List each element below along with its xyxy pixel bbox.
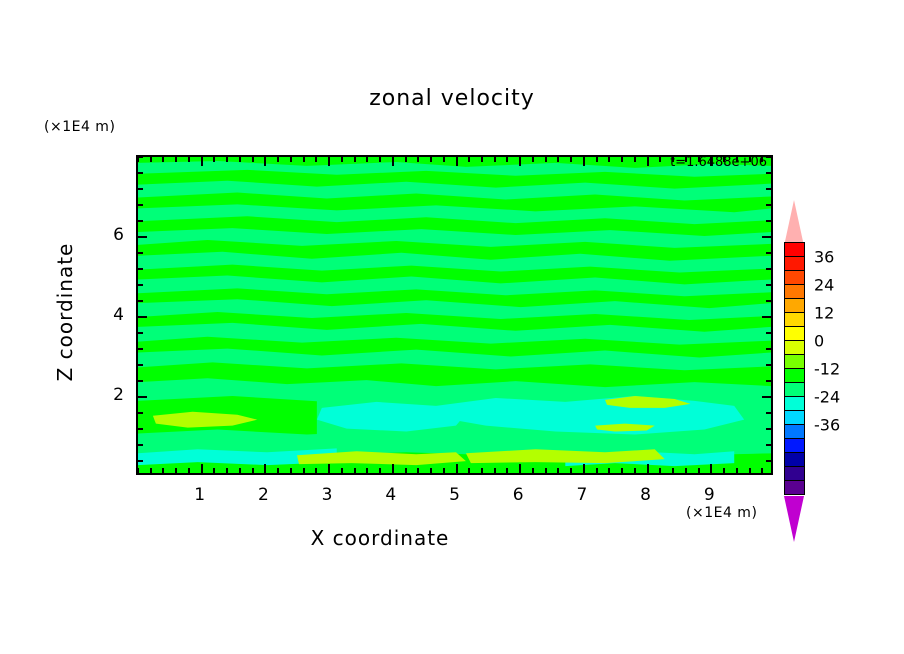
x-axis-title: X coordinate: [0, 526, 760, 550]
axis-tick: [532, 468, 534, 473]
colorbar-band: [784, 256, 805, 271]
axis-tick: [226, 157, 228, 162]
colorbar-band: [784, 424, 805, 439]
axis-tick: [608, 157, 610, 162]
axis-tick: [519, 464, 521, 473]
y-tick-label: 6: [98, 225, 124, 245]
colorbar-label: 0: [814, 332, 824, 351]
axis-tick: [392, 157, 394, 166]
axis-tick: [659, 468, 661, 473]
colorbar-band: [784, 396, 805, 411]
axis-tick: [481, 468, 483, 473]
axis-tick: [494, 157, 496, 162]
axis-tick: [766, 444, 771, 446]
axis-tick: [138, 268, 143, 270]
axis-tick: [290, 468, 292, 473]
axis-tick: [647, 157, 649, 166]
axis-tick: [315, 157, 317, 162]
axis-tick: [379, 468, 381, 473]
axis-tick: [341, 468, 343, 473]
colorbar-label: -12: [814, 360, 840, 379]
axis-tick: [519, 157, 521, 166]
colorbar-band: [784, 354, 805, 369]
axis-tick: [634, 157, 636, 162]
colorbar-label: -24: [814, 388, 840, 407]
axis-tick: [766, 380, 771, 382]
axis-tick: [621, 157, 623, 162]
x-tick-label: 7: [576, 485, 587, 505]
axis-tick: [328, 157, 330, 166]
colorbar-band: [784, 312, 805, 327]
axis-tick: [766, 220, 771, 222]
axis-tick: [672, 468, 674, 473]
axis-tick: [736, 468, 738, 473]
axis-tick: [766, 428, 771, 430]
axis-tick: [634, 468, 636, 473]
axis-tick: [162, 157, 164, 162]
axis-tick: [545, 468, 547, 473]
axis-tick: [723, 468, 725, 473]
contour-field: [138, 157, 771, 473]
colorbar-under-arrow: [784, 496, 804, 542]
axis-tick: [545, 157, 547, 162]
axis-tick: [252, 468, 254, 473]
axis-tick: [138, 412, 143, 414]
axis-tick: [766, 268, 771, 270]
x-tick-label: 2: [258, 485, 269, 505]
axis-tick: [766, 188, 771, 190]
axis-tick: [201, 464, 203, 473]
colorbar-band: [784, 270, 805, 285]
axis-tick: [201, 157, 203, 166]
axis-tick: [138, 172, 143, 174]
axis-tick: [138, 428, 143, 430]
colorbar-band: [784, 298, 805, 313]
axis-tick: [138, 236, 147, 238]
colorbar-band: [784, 452, 805, 467]
axis-tick: [532, 157, 534, 162]
axis-tick: [761, 468, 763, 473]
axis-tick: [494, 468, 496, 473]
colorbar-band: [784, 438, 805, 453]
y-axis-unit-label: (×1E4 m): [44, 119, 115, 135]
axis-tick: [468, 157, 470, 162]
axis-tick: [405, 157, 407, 162]
axis-tick: [583, 157, 585, 166]
colorbar-band: [784, 368, 805, 383]
axis-tick: [430, 157, 432, 162]
axis-tick: [138, 284, 143, 286]
axis-tick: [766, 364, 771, 366]
axis-tick: [570, 468, 572, 473]
axis-tick: [213, 468, 215, 473]
axis-tick: [766, 348, 771, 350]
colorbar-label: 36: [814, 248, 834, 267]
axis-tick: [138, 188, 143, 190]
axis-tick: [685, 468, 687, 473]
colorbar-band: [784, 480, 805, 495]
axis-tick: [443, 157, 445, 162]
colorbar-band: [784, 340, 805, 355]
colorbar-band: [784, 284, 805, 299]
axis-tick: [417, 468, 419, 473]
axis-tick: [766, 252, 771, 254]
axis-tick: [710, 464, 712, 473]
axis-tick: [608, 468, 610, 473]
colorbar-band: [784, 326, 805, 341]
axis-tick: [766, 284, 771, 286]
axis-tick: [417, 157, 419, 162]
axis-tick: [264, 157, 266, 166]
axis-tick: [328, 464, 330, 473]
y-tick-label: 2: [98, 385, 124, 405]
x-tick-label: 9: [704, 485, 715, 505]
axis-tick: [762, 396, 771, 398]
axis-tick: [766, 332, 771, 334]
axis-tick: [766, 204, 771, 206]
axis-tick: [137, 468, 139, 473]
axis-tick: [138, 364, 143, 366]
axis-tick: [138, 316, 147, 318]
axis-tick: [138, 348, 143, 350]
axis-tick: [138, 156, 143, 158]
axis-tick: [379, 157, 381, 162]
axis-tick: [213, 157, 215, 162]
axis-tick: [138, 380, 143, 382]
x-tick-label: 3: [322, 485, 333, 505]
axis-tick: [557, 157, 559, 162]
axis-tick: [138, 300, 143, 302]
colorbar-band: [784, 382, 805, 397]
axis-tick: [766, 460, 771, 462]
axis-tick: [354, 468, 356, 473]
axis-tick: [264, 464, 266, 473]
axis-tick: [392, 464, 394, 473]
axis-tick: [290, 157, 292, 162]
axis-tick: [303, 468, 305, 473]
axis-tick: [443, 468, 445, 473]
axis-tick: [138, 220, 143, 222]
axis-tick: [252, 157, 254, 162]
axis-tick: [766, 412, 771, 414]
axis-tick: [596, 157, 598, 162]
colorbar-over-arrow: [784, 200, 804, 246]
axis-tick: [698, 468, 700, 473]
x-tick-label: 1: [194, 485, 205, 505]
axis-tick: [354, 157, 356, 162]
axis-tick: [621, 468, 623, 473]
axis-tick: [162, 468, 164, 473]
colorbar-band: [784, 466, 805, 481]
axis-tick: [405, 468, 407, 473]
x-tick-label: 5: [449, 485, 460, 505]
axis-tick: [239, 157, 241, 162]
axis-tick: [762, 316, 771, 318]
axis-tick: [239, 468, 241, 473]
axis-tick: [226, 468, 228, 473]
contour-plot-area: t=1.6488e+06: [136, 155, 773, 475]
colorbar-band: [784, 242, 805, 257]
axis-tick: [277, 157, 279, 162]
axis-tick: [138, 252, 143, 254]
axis-tick: [766, 172, 771, 174]
axis-tick: [430, 468, 432, 473]
axis-tick: [341, 157, 343, 162]
axis-tick: [749, 468, 751, 473]
axis-tick: [506, 157, 508, 162]
axis-tick: [659, 157, 661, 162]
x-tick-label: 6: [513, 485, 524, 505]
axis-tick: [188, 157, 190, 162]
colorbar: [784, 243, 805, 495]
axis-tick: [175, 157, 177, 162]
colorbar-label: 24: [814, 276, 834, 295]
colorbar-label: -36: [814, 416, 840, 435]
x-tick-label: 4: [385, 485, 396, 505]
axis-tick: [138, 332, 143, 334]
axis-tick: [366, 157, 368, 162]
x-axis-unit-label: (×1E4 m): [686, 505, 757, 521]
axis-tick: [138, 396, 147, 398]
chart-title: zonal velocity: [0, 86, 904, 111]
axis-tick: [766, 300, 771, 302]
axis-tick: [138, 444, 143, 446]
axis-tick: [506, 468, 508, 473]
axis-tick: [456, 157, 458, 166]
axis-tick: [150, 468, 152, 473]
axis-tick: [762, 236, 771, 238]
axis-tick: [175, 468, 177, 473]
axis-tick: [570, 157, 572, 162]
axis-tick: [366, 468, 368, 473]
contour-lower-features: [138, 378, 771, 466]
y-axis-title: Z coordinate: [53, 222, 77, 402]
axis-tick: [138, 460, 143, 462]
axis-tick: [583, 464, 585, 473]
axis-tick: [596, 468, 598, 473]
axis-tick: [468, 468, 470, 473]
axis-tick: [481, 157, 483, 162]
axis-tick: [277, 468, 279, 473]
axis-tick: [150, 157, 152, 162]
x-tick-label: 8: [640, 485, 651, 505]
axis-tick: [138, 204, 143, 206]
colorbar-band: [784, 410, 805, 425]
timestamp-label: t=1.6488e+06: [670, 155, 767, 170]
y-tick-label: 4: [98, 305, 124, 325]
axis-tick: [456, 464, 458, 473]
axis-tick: [557, 468, 559, 473]
axis-tick: [315, 468, 317, 473]
axis-tick: [188, 468, 190, 473]
axis-tick: [303, 157, 305, 162]
axis-tick: [647, 464, 649, 473]
colorbar-label: 12: [814, 304, 834, 323]
